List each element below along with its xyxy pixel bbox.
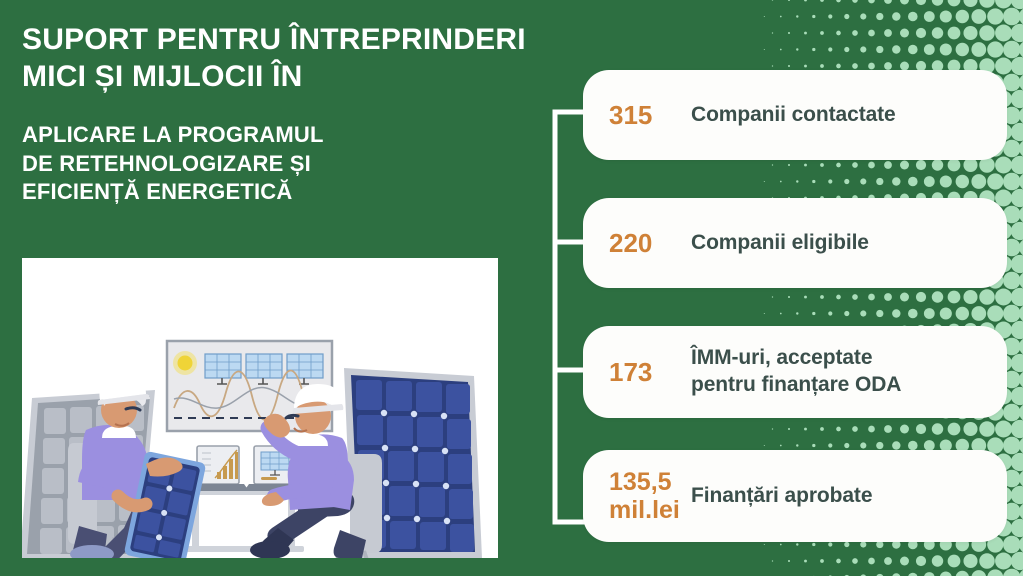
stat-label: Companii eligibile <box>691 230 869 257</box>
stat-card: 220 Companii eligibile <box>583 198 1007 288</box>
stat-value: 220 <box>609 229 683 257</box>
headline-block: SUPORT PENTRU ÎNTREPRINDERI MICI ȘI MIJL… <box>22 22 582 207</box>
stat-label: ÎMM-uri, acceptate pentru finanțare ODA <box>691 345 901 399</box>
stat-card: 173 ÎMM-uri, acceptate pentru finanțare … <box>583 326 1007 418</box>
page-subtitle: APLICARE LA PROGRAMUL DE RETEHNOLOGIZARE… <box>22 121 582 207</box>
stat-card: 135,5 mil.lei Finanțări aprobate <box>583 450 1007 542</box>
stat-value: 135,5 mil.lei <box>609 468 683 524</box>
stat-value: 315 <box>609 101 683 129</box>
page-title: SUPORT PENTRU ÎNTREPRINDERI MICI ȘI MIJL… <box>22 22 582 95</box>
infographic-canvas: SUPORT PENTRU ÎNTREPRINDERI MICI ȘI MIJL… <box>0 0 1023 576</box>
stat-card: 315 Companii contactate <box>583 70 1007 160</box>
stat-label: Finanțări aprobate <box>691 483 872 510</box>
stat-label: Companii contactate <box>691 102 896 129</box>
solar-engineers-illustration <box>22 258 498 558</box>
stat-value: 173 <box>609 358 683 386</box>
